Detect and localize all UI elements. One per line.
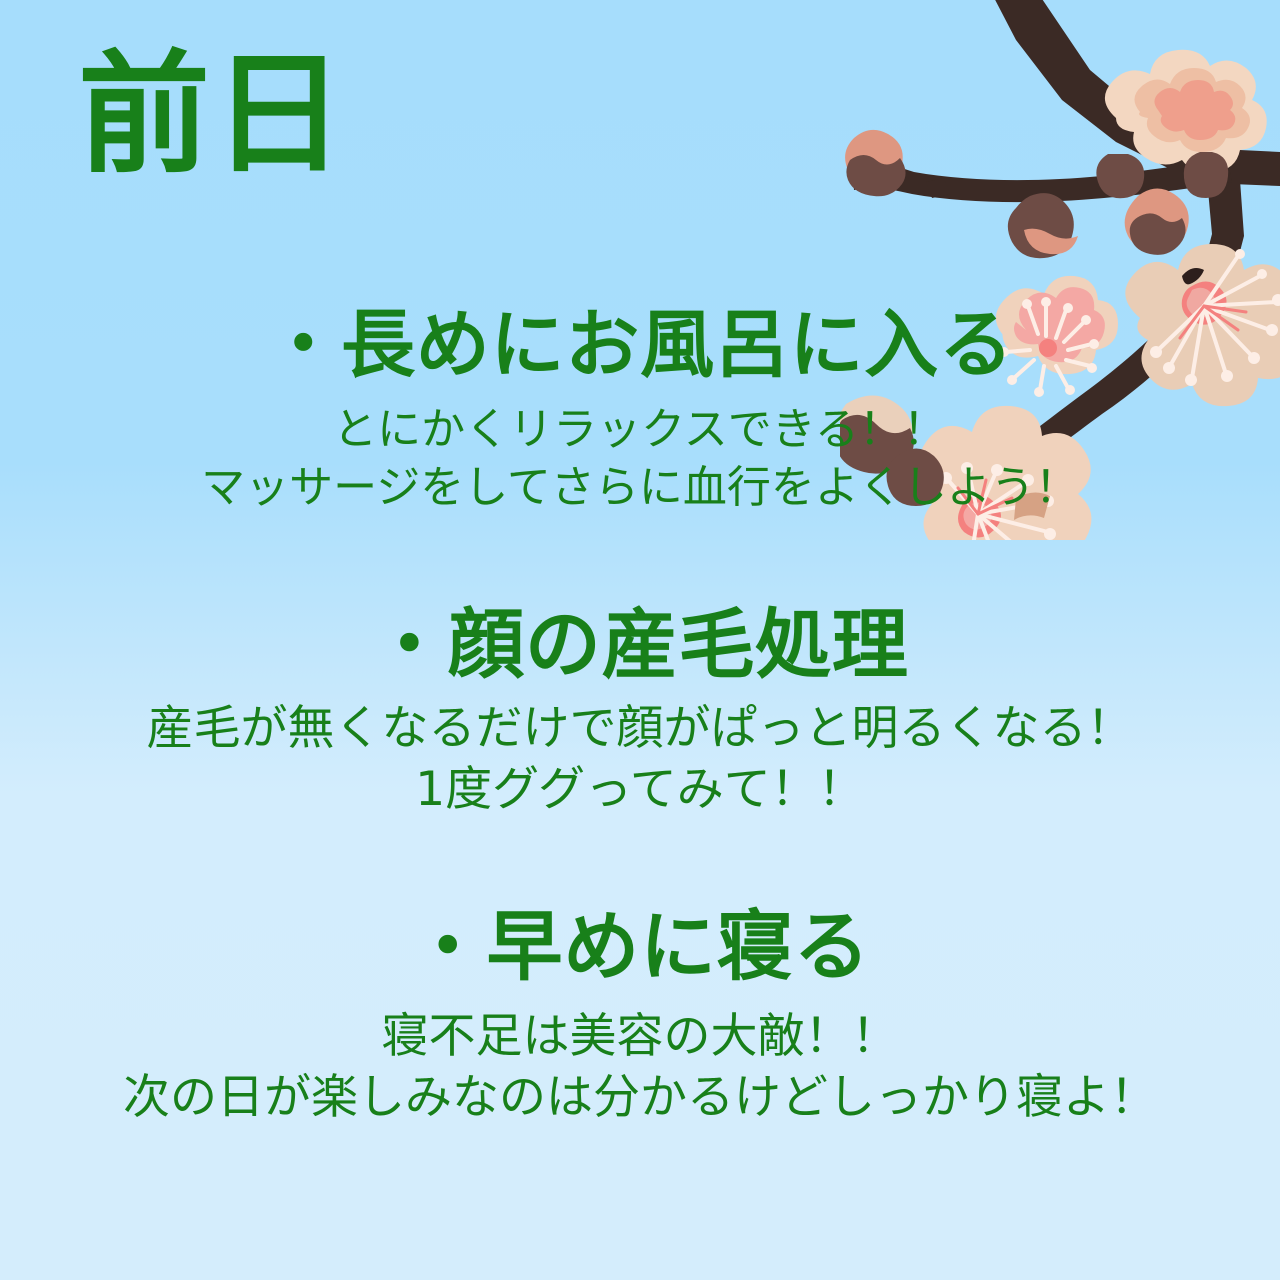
section-body: 寝不足は美容の大敵！！ 次の日が楽しみなのは分かるけどしっかり寝よ！ [0, 1006, 1280, 1128]
section-line: 寝不足は美容の大敵！！ [0, 1006, 1280, 1067]
page-title: 前日 [78, 38, 347, 194]
section-heading: ・長めにお風呂に入る [0, 302, 1280, 389]
section-heading: ・早めに寝る [0, 902, 1280, 992]
poster-canvas: 前日 ・長めにお風呂に入る とにかくリラックスできる！！ マッサージをしてさらに… [0, 0, 1280, 1280]
section-line: 産毛が無くなるだけで顔がぱっと明るくなる！ [0, 698, 1280, 759]
section-line: 次の日が楽しみなのは分かるけどしっかり寝よ！ [0, 1067, 1280, 1128]
tip-section-3: ・早めに寝る 寝不足は美容の大敵！！ 次の日が楽しみなのは分かるけどしっかり寝よ… [0, 902, 1280, 1128]
section-line: 1度ググってみて！！ [0, 759, 1280, 820]
tip-section-1: ・長めにお風呂に入る とにかくリラックスできる！！ マッサージをしてさらに血行を… [0, 302, 1280, 516]
section-line: とにかくリラックスできる！！ [0, 401, 1280, 458]
section-heading: ・顔の産毛処理 [0, 600, 1280, 690]
section-line: マッサージをしてさらに血行をよくしよう！ [0, 459, 1280, 516]
section-body: とにかくリラックスできる！！ マッサージをしてさらに血行をよくしよう！ [0, 401, 1280, 515]
section-body: 産毛が無くなるだけで顔がぱっと明るくなる！ 1度ググってみて！！ [0, 698, 1280, 820]
tip-section-2: ・顔の産毛処理 産毛が無くなるだけで顔がぱっと明るくなる！ 1度ググってみて！！ [0, 600, 1280, 820]
